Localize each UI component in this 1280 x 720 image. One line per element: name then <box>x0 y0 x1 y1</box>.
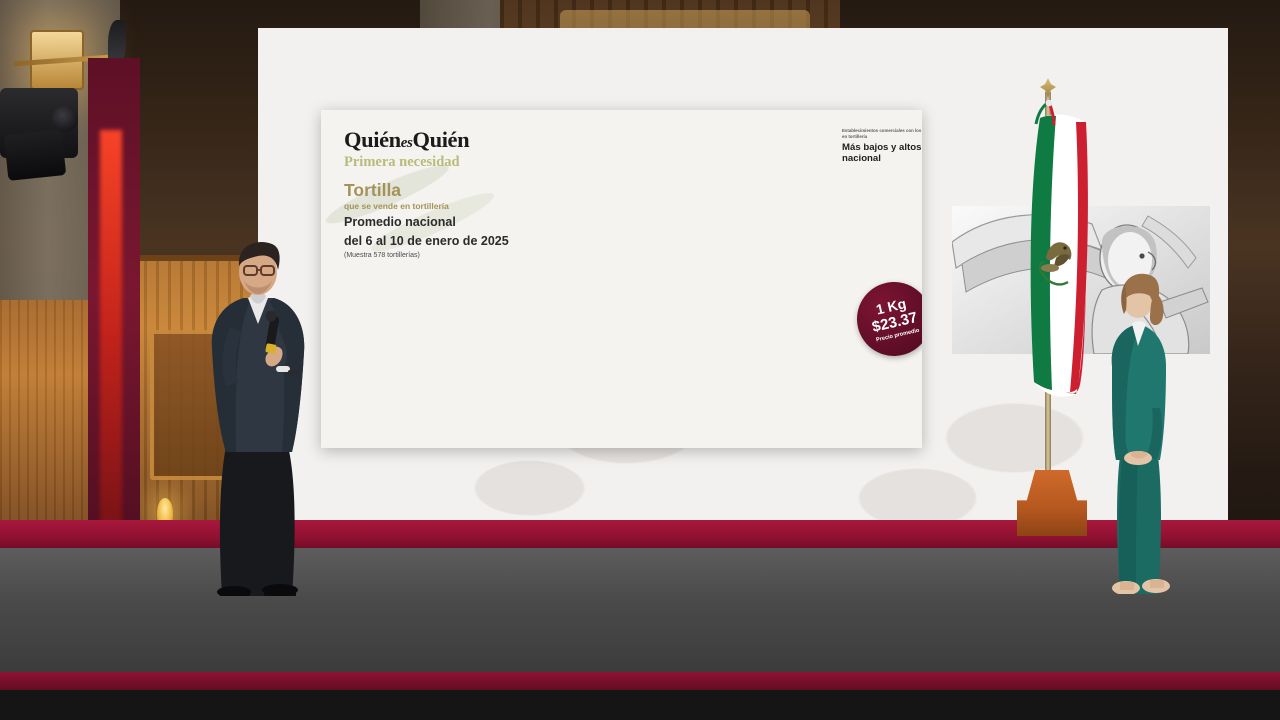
brand-subtitle: Primera necesidad <box>344 154 509 171</box>
official-woman <box>1086 258 1190 594</box>
camera-lens-icon <box>52 106 78 132</box>
screenshot-root: QuiénesQuién Primera necesidad Tortilla … <box>0 0 1280 720</box>
product-name: Tortilla <box>344 180 509 201</box>
tv-camera-secondary <box>4 129 66 181</box>
muestra-note: (Muestra 578 tortillerías) <box>344 252 509 259</box>
presentation-slide[interactable]: QuiénesQuién Primera necesidad Tortilla … <box>321 110 922 448</box>
promedio-line-1: Promedio nacional <box>344 215 509 230</box>
brand-title: QuiénesQuién <box>344 127 509 153</box>
flag-ribbon <box>1032 100 1066 126</box>
brand-title-part1: Quién <box>344 127 401 152</box>
slide-brand-block: QuiénesQuién Primera necesidad Tortilla … <box>344 127 509 259</box>
brand-title-part2: Quién <box>412 127 469 152</box>
stage-front-trim <box>0 672 1280 692</box>
header-note-block: Establecimientos comerciales con los pre… <box>842 128 922 165</box>
average-price-badge: 1 Kg $23.37 Precio promedio <box>850 275 922 364</box>
red-banner-glow <box>100 130 122 540</box>
product-where: que se vende en tortillería <box>344 201 509 211</box>
header-note-small: Establecimientos comerciales con los pre… <box>842 128 922 140</box>
brand-title-es: es <box>401 135 413 151</box>
header-note-big: Más bajos y altos a nivel nacional <box>842 142 922 165</box>
foreground-shadow <box>0 690 1280 720</box>
presenter-man <box>192 228 322 596</box>
slide-footer <box>321 392 922 448</box>
promedio-line-2: del 6 al 10 de enero de 2025 <box>344 234 509 249</box>
